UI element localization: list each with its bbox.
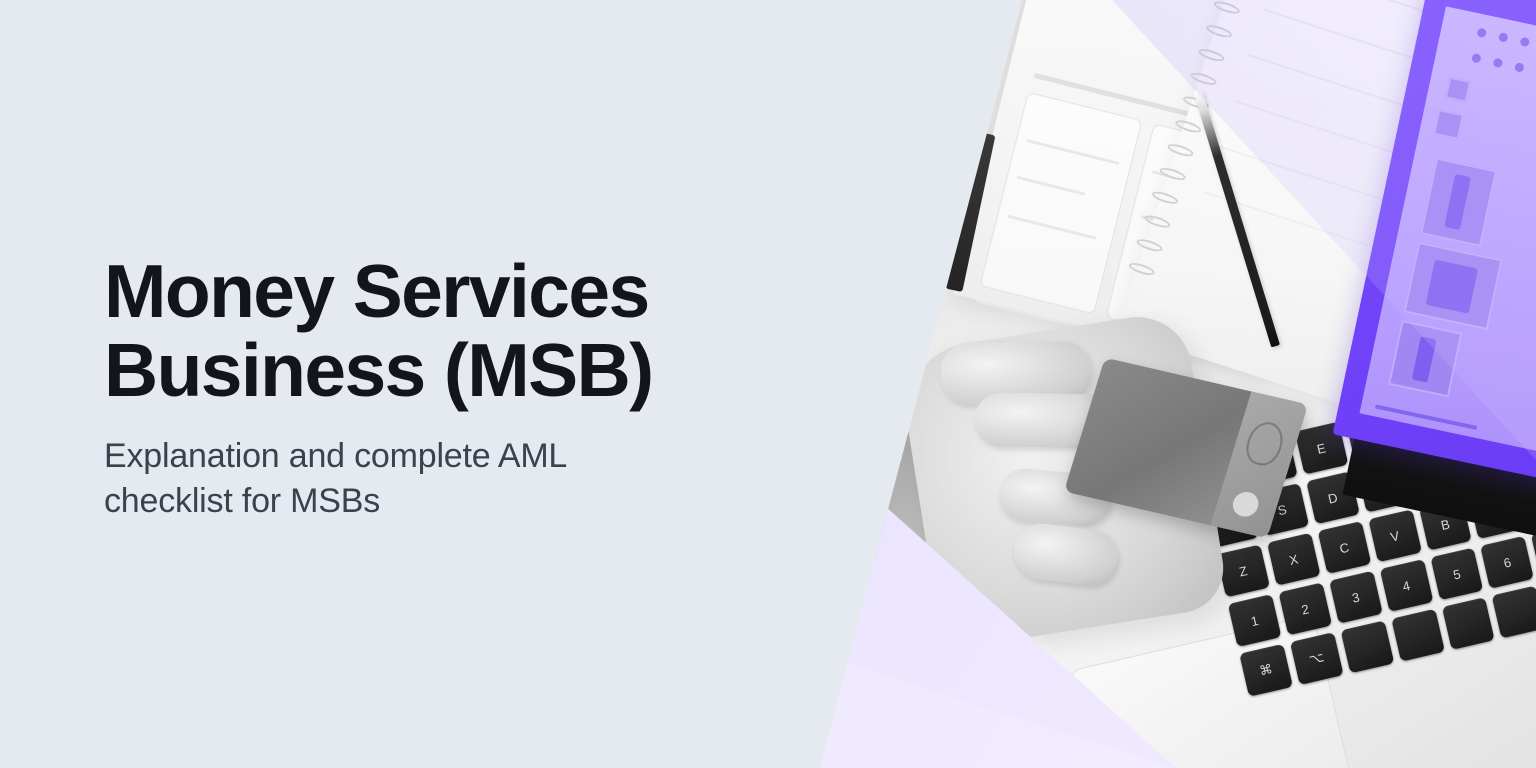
finger [1011,520,1121,588]
page-title: Money Services Business (MSB) [104,252,724,410]
hero-banner: Money Services Business (MSB) Explanatio… [0,0,1536,768]
hero-text-panel: Money Services Business (MSB) Explanatio… [104,252,724,524]
page-subtitle: Explanation and complete AML checklist f… [104,434,724,524]
